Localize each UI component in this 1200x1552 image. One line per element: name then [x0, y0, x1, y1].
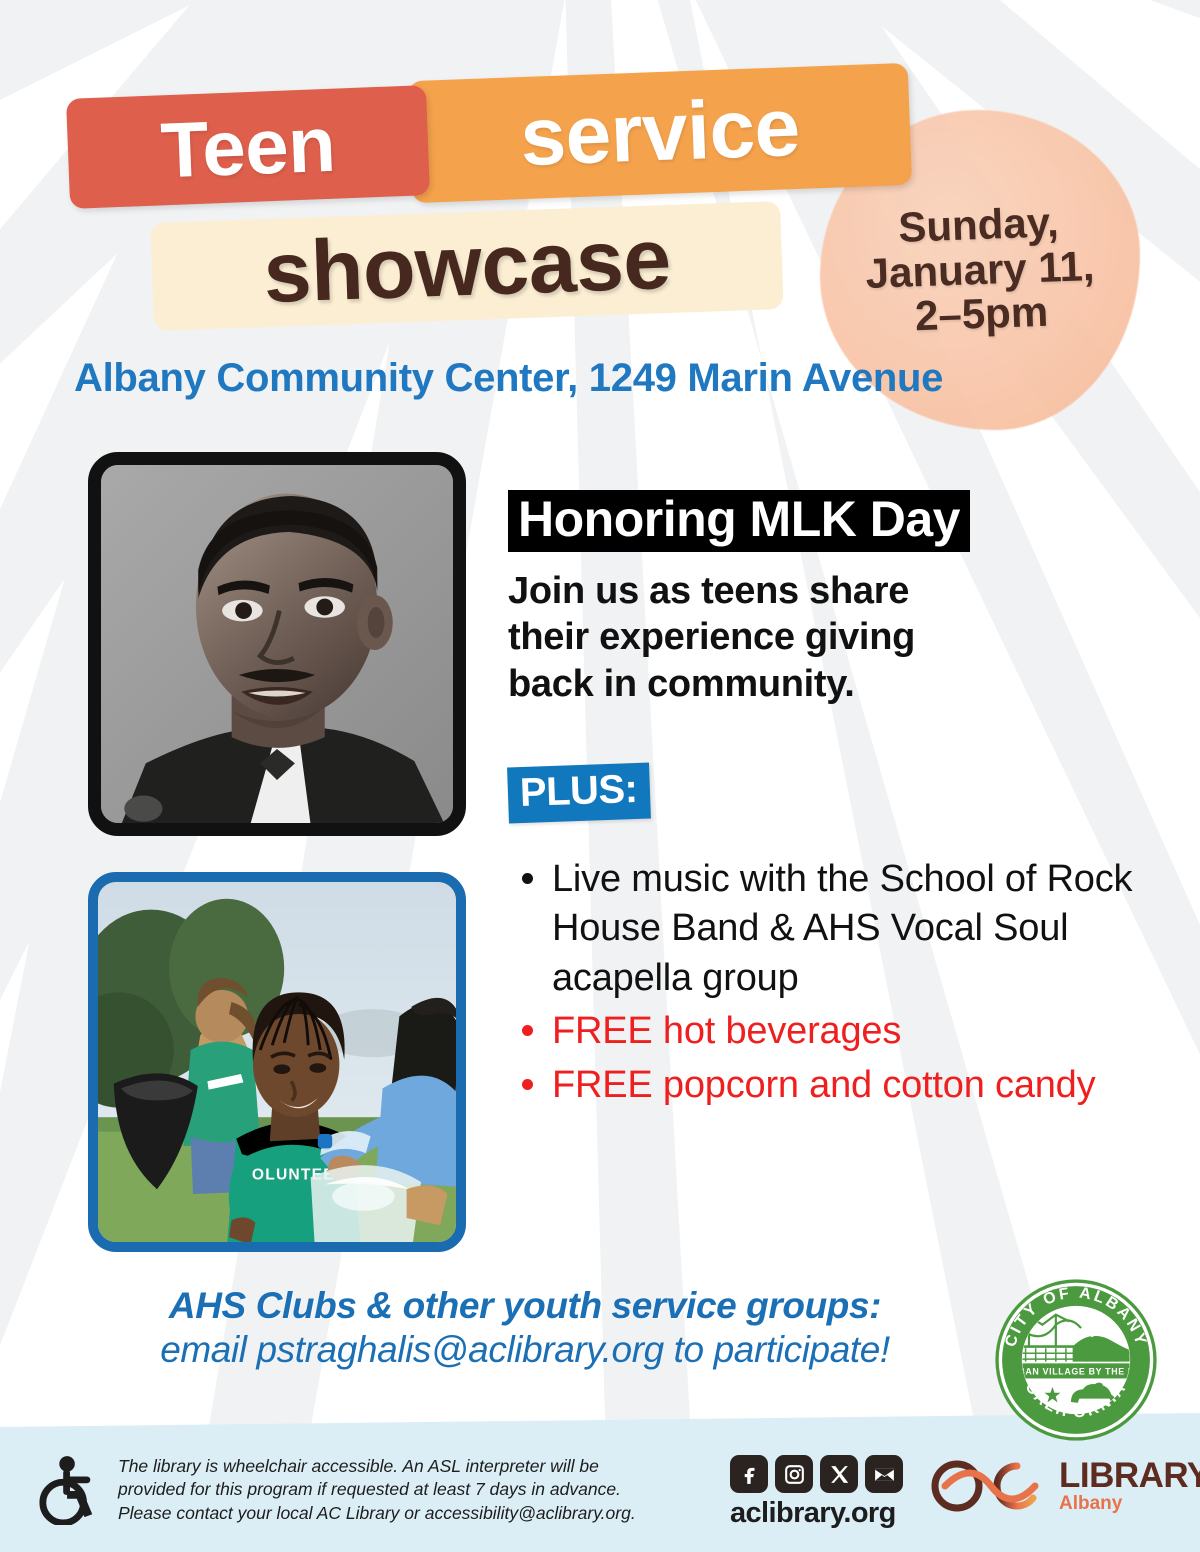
poster-canvas: Teen service showcase Sunday, January 11… — [0, 0, 1200, 1552]
ac-infinity-mark — [925, 1456, 1053, 1516]
cta-line-2: email pstraghalis@aclibrary.org to parti… — [60, 1329, 990, 1371]
title-block-service: service — [408, 63, 912, 203]
seal-banner-text: URBAN VILLAGE BY THE BAY — [1004, 1366, 1147, 1376]
list-item: FREE popcorn and cotton candy — [508, 1061, 1148, 1110]
accessibility-line-2: provided for this program if requested a… — [118, 1478, 718, 1501]
main-content-column: Honoring MLK Day Join us as teens share … — [508, 490, 1148, 1114]
title-showcase-text: showcase — [262, 209, 672, 322]
wheelchair-accessibility-icon — [38, 1455, 100, 1525]
accessibility-statement: The library is wheelchair accessible. An… — [118, 1455, 718, 1525]
city-of-albany-seal: CITY OF ALBANY CALIFORNIA — [992, 1276, 1160, 1444]
title-teen-text: Teen — [159, 98, 337, 196]
email-icon[interactable] — [865, 1455, 903, 1493]
date-line-day: Sunday, — [898, 200, 1060, 251]
lede-line-2: their experience giving — [508, 614, 1148, 660]
ac-library-wordmark: LIBRARY Albany — [1059, 1458, 1200, 1515]
aclibrary-website[interactable]: aclibrary.org — [730, 1497, 903, 1530]
social-links: aclibrary.org — [730, 1455, 903, 1530]
plus-badge: PLUS: — [507, 763, 650, 824]
list-item: Live music with the School of Rock House… — [508, 855, 1148, 1003]
title-service-text: service — [519, 81, 801, 185]
ac-logo-secondary: Albany — [1059, 1494, 1200, 1515]
mlk-portrait-photo — [88, 452, 466, 836]
title-block-showcase: showcase — [150, 201, 783, 331]
facebook-icon[interactable] — [730, 1455, 768, 1493]
lede-paragraph: Join us as teens share their experience … — [508, 568, 1148, 707]
plus-bullet-list: Live music with the School of Rock House… — [508, 855, 1148, 1110]
accessibility-line-1: The library is wheelchair accessible. An… — [118, 1455, 718, 1478]
ac-logo-primary: LIBRARY — [1059, 1458, 1200, 1493]
accessibility-line-3: Please contact your local AC Library or … — [118, 1502, 718, 1525]
ac-library-logo: LIBRARY Albany — [925, 1452, 1190, 1524]
date-line-date: January 11, — [865, 244, 1095, 297]
x-twitter-icon[interactable] — [820, 1455, 858, 1493]
venue-line: Albany Community Center, 1249 Marin Aven… — [74, 356, 974, 401]
title-block-teen: Teen — [66, 85, 430, 209]
call-to-action: AHS Clubs & other youth service groups: … — [60, 1285, 990, 1371]
cta-line-1: AHS Clubs & other youth service groups: — [60, 1285, 990, 1327]
volunteer-cleanup-photo: VOLUNTEER — [88, 872, 466, 1252]
main-heading: Honoring MLK Day — [508, 490, 970, 552]
list-item: FREE hot beverages — [508, 1007, 1148, 1056]
date-line-time: 2–5pm — [914, 290, 1049, 340]
lede-line-1: Join us as teens share — [508, 568, 1148, 614]
lede-line-3: back in community. — [508, 661, 1148, 707]
instagram-icon[interactable] — [775, 1455, 813, 1493]
